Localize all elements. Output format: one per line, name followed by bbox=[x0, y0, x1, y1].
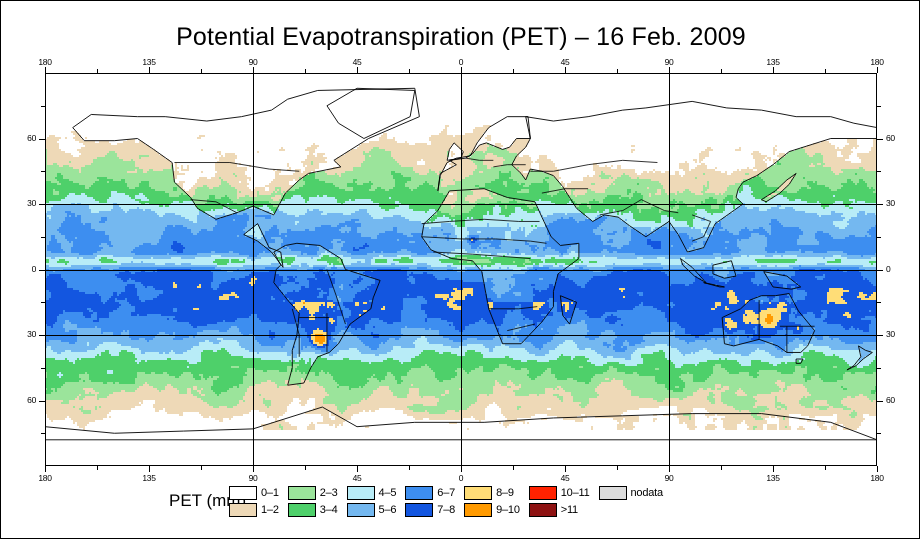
axis-tick bbox=[877, 335, 883, 336]
axis-tick bbox=[877, 466, 878, 472]
axis-tick bbox=[721, 466, 722, 470]
axis-tick-label: 30 bbox=[0, 198, 36, 208]
legend-swatch bbox=[347, 486, 375, 500]
legend-entry: 5–6 bbox=[347, 502, 397, 517]
legend-label: nodata bbox=[631, 487, 663, 499]
legend-label: >11 bbox=[561, 504, 578, 516]
axis-tick bbox=[201, 466, 202, 470]
legend-entry: 2–3 bbox=[288, 485, 338, 500]
legend-label: 10–11 bbox=[561, 487, 590, 499]
legend-label: 3–4 bbox=[320, 504, 338, 516]
legend-swatch bbox=[288, 503, 316, 517]
axis-tick-label: 90 bbox=[649, 57, 689, 67]
axis-tick bbox=[877, 171, 881, 172]
legend-entry: 0–1 bbox=[229, 485, 279, 500]
axis-tick-label: 45 bbox=[545, 473, 585, 483]
axis-tick bbox=[45, 466, 46, 472]
axis-tick-label: 45 bbox=[545, 57, 585, 67]
axis-tick bbox=[45, 67, 46, 73]
axis-tick bbox=[305, 466, 306, 470]
axis-tick bbox=[825, 466, 826, 470]
axis-tick bbox=[97, 69, 98, 73]
legend-label: 2–3 bbox=[320, 487, 338, 499]
page-title: Potential Evapotranspiration (PET) – 16 … bbox=[1, 23, 920, 52]
axis-tick bbox=[877, 270, 883, 271]
axis-tick-label: 135 bbox=[129, 57, 169, 67]
axis-tick-label: 180 bbox=[25, 473, 65, 483]
axis-tick bbox=[41, 433, 45, 434]
axis-tick bbox=[877, 67, 878, 73]
axis-tick bbox=[877, 106, 881, 107]
axis-tick bbox=[253, 67, 254, 73]
legend-entry: nodata bbox=[599, 485, 663, 500]
axis-tick bbox=[39, 270, 45, 271]
legend-label: 5–6 bbox=[379, 504, 397, 516]
axis-tick bbox=[253, 466, 254, 472]
axis-tick bbox=[41, 302, 45, 303]
legend-swatch bbox=[229, 503, 257, 517]
axis-tick bbox=[877, 433, 881, 434]
axis-tick bbox=[39, 139, 45, 140]
legend-swatch bbox=[405, 486, 433, 500]
axis-tick bbox=[201, 69, 202, 73]
axis-tick bbox=[409, 69, 410, 73]
axis-tick-label: 90 bbox=[649, 473, 689, 483]
legend-swatch bbox=[405, 503, 433, 517]
axis-tick-label: 0 bbox=[441, 473, 481, 483]
axis-tick bbox=[773, 466, 774, 472]
axis-tick-label: 0 bbox=[0, 264, 36, 274]
axis-tick bbox=[149, 67, 150, 73]
legend-entries: 0–11–22–33–44–55–66–77–88–99–1010–11>11n… bbox=[229, 485, 663, 517]
legend-entry: 1–2 bbox=[229, 502, 279, 517]
legend-swatch bbox=[529, 486, 557, 500]
axis-tick bbox=[877, 139, 883, 140]
axis-tick-label: 30 bbox=[0, 329, 36, 339]
axis-tick bbox=[41, 171, 45, 172]
axis-tick bbox=[877, 401, 883, 402]
map-plot-area bbox=[45, 73, 877, 466]
axis-tick bbox=[877, 368, 881, 369]
legend-entry: 7–8 bbox=[405, 502, 455, 517]
axis-tick-label: 180 bbox=[857, 57, 897, 67]
axis-tick-label: 135 bbox=[129, 473, 169, 483]
legend-swatch bbox=[347, 503, 375, 517]
legend-entry: 8–9 bbox=[464, 485, 520, 500]
axis-tick bbox=[409, 466, 410, 470]
legend-swatch bbox=[288, 486, 316, 500]
legend-label: 7–8 bbox=[437, 504, 455, 516]
axis-tick-label: 135 bbox=[753, 57, 793, 67]
axis-tick bbox=[39, 401, 45, 402]
legend-label: 0–1 bbox=[261, 487, 279, 499]
axis-tick bbox=[825, 69, 826, 73]
axis-tick-label: 30 bbox=[886, 329, 895, 339]
legend-label: 8–9 bbox=[496, 487, 514, 499]
legend-entry: 9–10 bbox=[464, 502, 520, 517]
pet-heatmap-canvas bbox=[45, 73, 877, 466]
axis-tick bbox=[357, 67, 358, 73]
axis-tick bbox=[461, 466, 462, 472]
legend-swatch bbox=[464, 486, 492, 500]
axis-tick bbox=[357, 466, 358, 472]
axis-tick bbox=[461, 67, 462, 73]
axis-tick bbox=[877, 302, 881, 303]
axis-tick-label: 180 bbox=[857, 473, 897, 483]
axis-tick-label: 60 bbox=[0, 395, 36, 405]
legend-swatch bbox=[229, 486, 257, 500]
legend-label: 9–10 bbox=[496, 504, 520, 516]
axis-tick bbox=[773, 67, 774, 73]
axis-tick bbox=[41, 368, 45, 369]
axis-tick bbox=[149, 466, 150, 472]
axis-tick bbox=[513, 466, 514, 470]
legend-swatch bbox=[529, 503, 557, 517]
axis-tick-label: 30 bbox=[886, 198, 895, 208]
axis-tick-label: 60 bbox=[0, 133, 36, 143]
axis-tick-label: 0 bbox=[886, 264, 890, 274]
axis-tick-label: 90 bbox=[233, 57, 273, 67]
axis-tick bbox=[565, 67, 566, 73]
axis-tick bbox=[305, 69, 306, 73]
axis-tick bbox=[97, 466, 98, 470]
axis-tick bbox=[39, 335, 45, 336]
legend: PET (mm) 0–11–22–33–44–55–66–77–88–99–10… bbox=[169, 485, 869, 519]
legend-swatch bbox=[599, 486, 627, 500]
legend-label: 6–7 bbox=[437, 487, 455, 499]
axis-tick bbox=[669, 466, 670, 472]
legend-entry: 3–4 bbox=[288, 502, 338, 517]
axis-tick bbox=[513, 69, 514, 73]
legend-entry: 6–7 bbox=[405, 485, 455, 500]
axis-tick bbox=[721, 69, 722, 73]
axis-tick-label: 45 bbox=[337, 473, 377, 483]
legend-swatch bbox=[464, 503, 492, 517]
axis-tick-label: 135 bbox=[753, 473, 793, 483]
axis-tick-label: 60 bbox=[886, 395, 895, 405]
axis-tick bbox=[565, 466, 566, 472]
figure-root: Potential Evapotranspiration (PET) – 16 … bbox=[0, 0, 920, 539]
axis-tick bbox=[41, 237, 45, 238]
axis-tick-label: 60 bbox=[886, 133, 895, 143]
axis-tick bbox=[877, 237, 881, 238]
legend-entry: >11 bbox=[529, 502, 590, 517]
legend-entry: 4–5 bbox=[347, 485, 397, 500]
axis-tick-label: 90 bbox=[233, 473, 273, 483]
axis-tick bbox=[669, 67, 670, 73]
axis-tick-label: 180 bbox=[25, 57, 65, 67]
axis-tick bbox=[41, 106, 45, 107]
axis-tick bbox=[617, 69, 618, 73]
axis-tick bbox=[877, 204, 883, 205]
axis-tick bbox=[39, 204, 45, 205]
legend-entry: 10–11 bbox=[529, 485, 590, 500]
axis-tick bbox=[617, 466, 618, 470]
axis-tick-label: 45 bbox=[337, 57, 377, 67]
legend-label: 4–5 bbox=[379, 487, 397, 499]
axis-tick-label: 0 bbox=[441, 57, 481, 67]
legend-label: 1–2 bbox=[261, 504, 279, 516]
